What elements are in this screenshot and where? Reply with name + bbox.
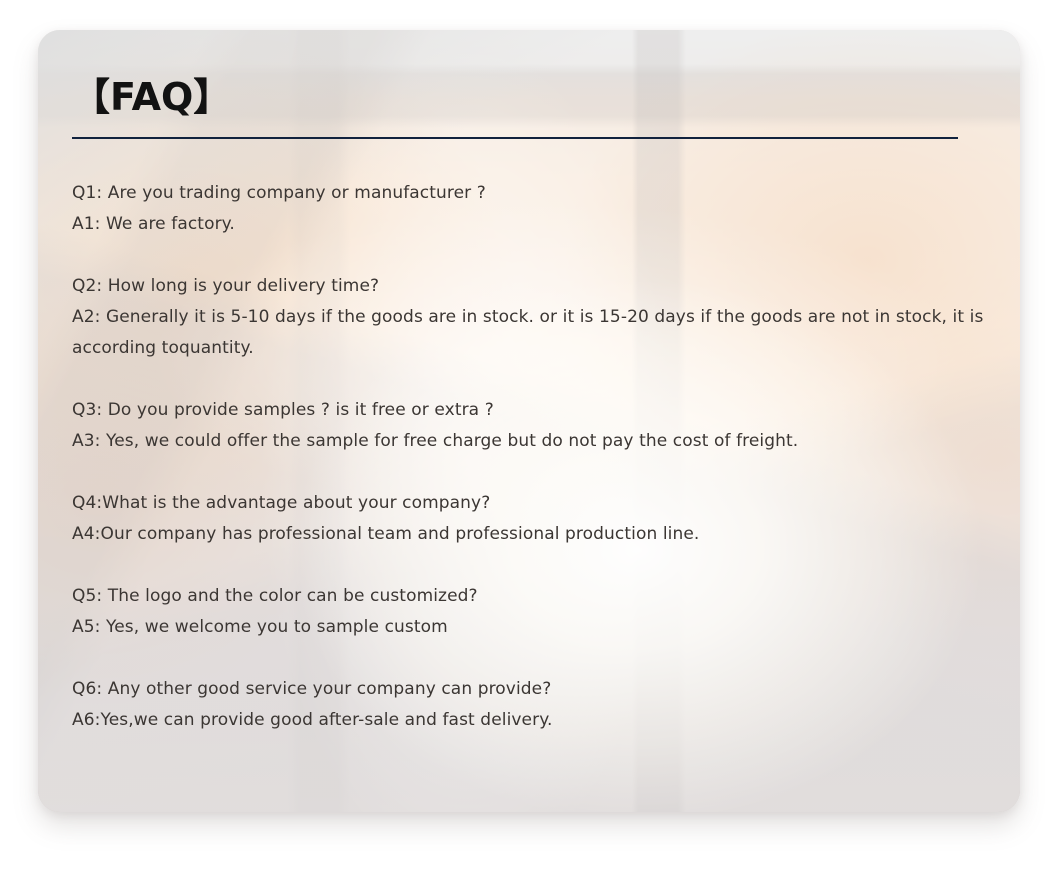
faq-question: Q5: The logo and the color can be custom… [72,581,992,612]
faq-answer: A2: Generally it is 5-10 days if the goo… [72,302,992,364]
faq-title: 【FAQ】 [72,78,231,116]
faq-item: Q5: The logo and the color can be custom… [72,581,992,643]
faq-answer: A3: Yes, we could offer the sample for f… [72,426,992,457]
title-divider [72,137,958,139]
faq-item: Q6: Any other good service your company … [72,674,992,736]
faq-answer: A1: We are factory. [72,209,992,240]
faq-answer: A6:Yes,we can provide good after-sale an… [72,705,992,736]
faq-question: Q6: Any other good service your company … [72,674,992,705]
faq-answer: A4:Our company has professional team and… [72,519,992,550]
faq-item: Q3: Do you provide samples ? is it free … [72,395,992,457]
faq-item: Q2: How long is your delivery time? A2: … [72,271,992,364]
faq-list: Q1: Are you trading company or manufactu… [72,178,992,736]
page-root: 【FAQ】 Q1: Are you trading company or man… [0,0,1060,873]
faq-question: Q2: How long is your delivery time? [72,271,992,302]
faq-card: 【FAQ】 Q1: Are you trading company or man… [38,30,1020,812]
faq-question: Q3: Do you provide samples ? is it free … [72,395,992,426]
faq-content: 【FAQ】 Q1: Are you trading company or man… [38,30,1020,812]
faq-question: Q4:What is the advantage about your comp… [72,488,992,519]
faq-item: Q4:What is the advantage about your comp… [72,488,992,550]
faq-question: Q1: Are you trading company or manufactu… [72,178,992,209]
faq-item: Q1: Are you trading company or manufactu… [72,178,992,240]
faq-answer: A5: Yes, we welcome you to sample custom [72,612,992,643]
